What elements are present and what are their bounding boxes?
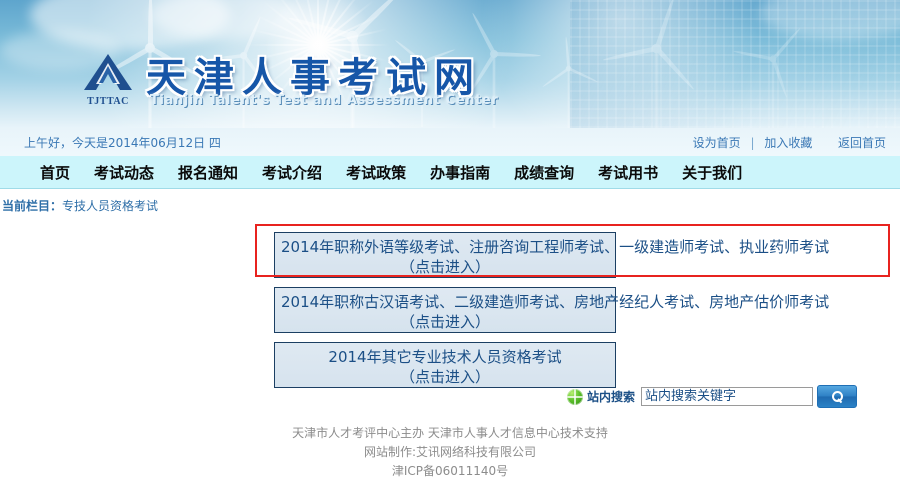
turbine-hub xyxy=(652,44,662,54)
entry-3-line1: 2014年其它专业技术人员资格考试 xyxy=(281,347,609,367)
entry-2-line2: （点击进入） xyxy=(281,312,609,332)
breadcrumb: 当前栏目：专技人员资格考试 xyxy=(2,197,158,214)
footer-line-3: 津ICP备06011140号 xyxy=(0,462,900,481)
sub-bar: 当前栏目：专技人员资格考试 站内搜索 xyxy=(0,189,900,219)
page-root: TJTTAC 天津人事考试网 Tianjin Talent's Test and… xyxy=(0,0,900,488)
nav-item-4[interactable]: 考试政策 xyxy=(346,162,406,183)
nav-item-0[interactable]: 首页 xyxy=(40,162,70,183)
entry-3-line2: （点击进入） xyxy=(281,367,609,387)
info-bar: 上午好，今天是2014年06月12日 四 设为首页 | 加入收藏 返回首页 xyxy=(0,128,900,156)
nav-item-3[interactable]: 考试介绍 xyxy=(262,162,322,183)
breadcrumb-value: 专技人员资格考试 xyxy=(62,199,158,213)
turbine-mast xyxy=(567,67,569,128)
entry-2-line1: 2014年职称古汉语考试、二级建造师考试、房地产经纪人考试、房地产估价师考试 xyxy=(281,292,609,312)
footer-line-1: 天津市人才考评中心主办 天津市人事人才信息中心技术支持 xyxy=(0,424,900,443)
turbine-hub xyxy=(490,50,498,58)
back-home-link[interactable]: 返回首页 xyxy=(838,136,886,150)
logo-abbr: TJTTAC xyxy=(78,96,138,107)
nav-item-1[interactable]: 考试动态 xyxy=(94,162,154,183)
main-content: 2014年职称外语等级考试、注册咨询工程师考试、一级建造师考试、执业药师考试 （… xyxy=(0,219,900,419)
site-logo[interactable]: TJTTAC xyxy=(78,52,138,108)
nav-item-7[interactable]: 考试用书 xyxy=(598,162,658,183)
footer-line-2: 网站制作:艾讯网络科技有限公司 xyxy=(0,443,900,462)
turbine-blade xyxy=(494,52,541,58)
add-favorite-link[interactable]: 加入收藏 xyxy=(764,136,812,150)
nav-item-5[interactable]: 办事指南 xyxy=(430,162,490,183)
greeting-text: 上午好，今天是2014年06月12日 四 xyxy=(24,134,221,151)
utility-links: 设为首页 | 加入收藏 返回首页 xyxy=(693,134,886,151)
nav-items-container: 首页考试动态报名通知考试介绍考试政策办事指南成绩查询考试用书关于我们 xyxy=(40,156,742,188)
site-banner: TJTTAC 天津人事考试网 Tianjin Talent's Test and… xyxy=(0,0,900,128)
triangle-mountain-logo-icon xyxy=(82,52,134,92)
turbine-hub xyxy=(347,31,359,43)
turbine-mast xyxy=(492,52,495,128)
nav-item-6[interactable]: 成绩查询 xyxy=(514,162,574,183)
nav-item-8[interactable]: 关于我们 xyxy=(682,162,742,183)
turbine-mast xyxy=(655,47,659,128)
main-navigation: 首页考试动态报名通知考试介绍考试政策办事指南成绩查询考试用书关于我们 xyxy=(0,156,900,189)
set-homepage-link[interactable]: 设为首页 xyxy=(693,136,741,150)
exam-entry-link-1[interactable]: 2014年职称外语等级考试、注册咨询工程师考试、一级建造师考试、执业药师考试 （… xyxy=(274,232,616,278)
link-separator: | xyxy=(750,136,754,150)
site-footer: 天津市人才考评中心主办 天津市人事人才信息中心技术支持 网站制作:艾讯网络科技有… xyxy=(0,424,900,481)
turbine-blade xyxy=(542,67,570,88)
solar-panel-texture xyxy=(570,0,900,128)
turbine-hub xyxy=(566,66,572,72)
turbine-blade xyxy=(148,0,153,48)
exam-entry-link-2[interactable]: 2014年职称古汉语考试、二级建造师考试、房地产经纪人考试、房地产估价师考试 （… xyxy=(274,287,616,333)
turbine-hub xyxy=(770,56,777,63)
nav-item-2[interactable]: 报名通知 xyxy=(178,162,238,183)
entry-1-line1: 2014年职称外语等级考试、注册咨询工程师考试、一级建造师考试、执业药师考试 xyxy=(281,237,609,257)
exam-entry-link-3[interactable]: 2014年其它专业技术人员资格考试 （点击进入） xyxy=(274,342,616,388)
site-subtitle: Tianjin Talent's Test and Assessment Cen… xyxy=(150,93,498,108)
breadcrumb-label: 当前栏目： xyxy=(2,199,62,213)
entry-1-line2: （点击进入） xyxy=(281,257,609,277)
